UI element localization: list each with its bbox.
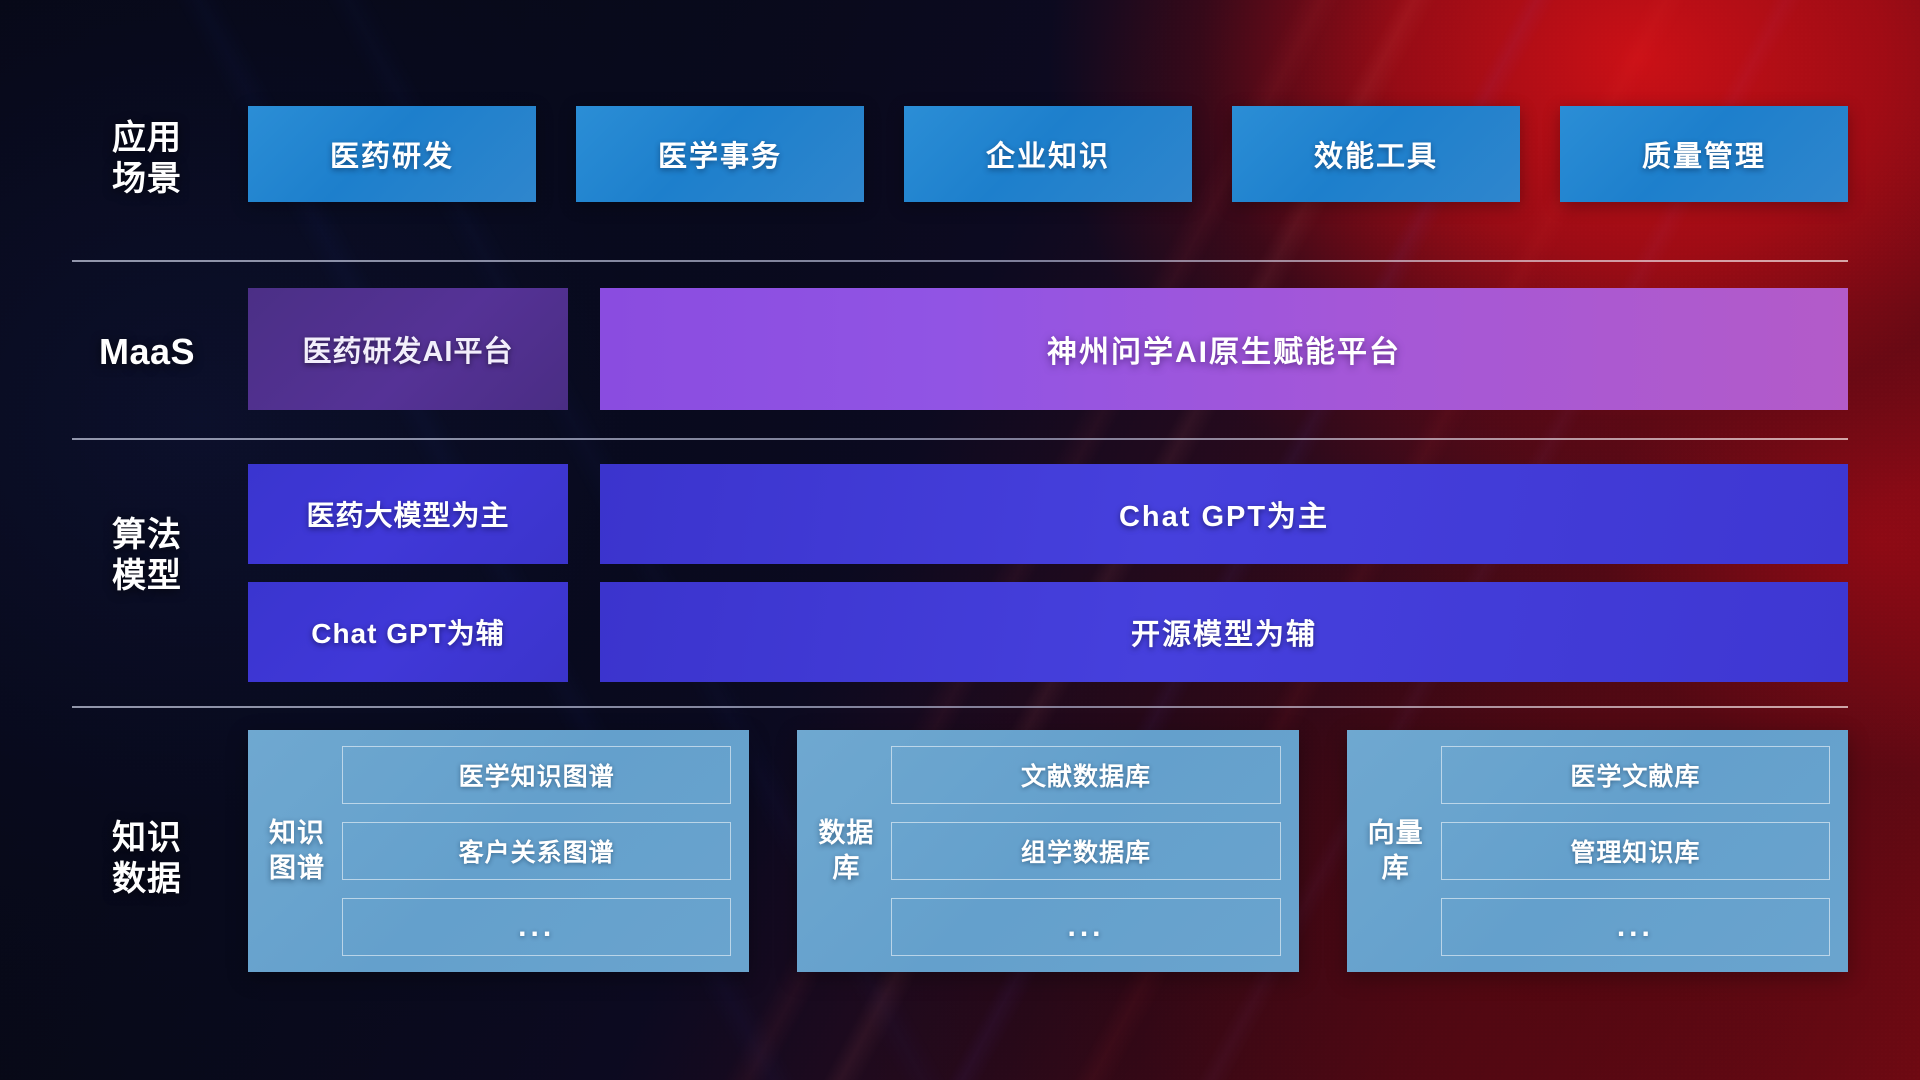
knowledge-items-vector: 医学文献库 管理知识库 ...: [1441, 746, 1830, 956]
knowledge-item-management-kb[interactable]: 管理知识库: [1441, 822, 1830, 880]
diagram-canvas: 应用 场景 医药研发 医学事务 企业知识 效能工具 质量管理 MaaS 医药研发…: [0, 0, 1920, 1080]
knowledge-row: 知识 图谱 医学知识图谱 客户关系图谱 ... 数据 库 文献数据库 组学数据库…: [248, 730, 1848, 972]
divider-maas-algorithm: [72, 438, 1848, 440]
algo-box-chatgpt-secondary[interactable]: Chat GPT为辅: [248, 582, 568, 682]
knowledge-group-vector-store: 向量 库 医学文献库 管理知识库 ...: [1347, 730, 1848, 972]
knowledge-group-title-vector: 向量 库: [1365, 746, 1427, 956]
knowledge-item-literature-db[interactable]: 文献数据库: [891, 746, 1280, 804]
algo-box-chatgpt-primary[interactable]: Chat GPT为主: [600, 464, 1848, 564]
knowledge-group-title-graph: 知识 图谱: [266, 746, 328, 956]
algo-box-pharma-llm-primary[interactable]: 医药大模型为主: [248, 464, 568, 564]
maas-row: 医药研发AI平台 神州问学AI原生赋能平台: [248, 288, 1848, 410]
application-row: 医药研发 医学事务 企业知识 效能工具 质量管理: [248, 106, 1848, 202]
knowledge-item-vector-more[interactable]: ...: [1441, 898, 1830, 956]
knowledge-items-database: 文献数据库 组学数据库 ...: [891, 746, 1280, 956]
app-box-medical-affairs[interactable]: 医学事务: [576, 106, 864, 202]
knowledge-item-graph-more[interactable]: ...: [342, 898, 731, 956]
app-box-quality-management[interactable]: 质量管理: [1560, 106, 1848, 202]
knowledge-items-graph: 医学知识图谱 客户关系图谱 ...: [342, 746, 731, 956]
divider-application-maas: [72, 260, 1848, 262]
knowledge-item-omics-db[interactable]: 组学数据库: [891, 822, 1280, 880]
knowledge-item-medical-graph[interactable]: 医学知识图谱: [342, 746, 731, 804]
app-box-medicine-rd[interactable]: 医药研发: [248, 106, 536, 202]
maas-box-pharma-ai-platform[interactable]: 医药研发AI平台: [248, 288, 568, 410]
algo-box-opensource-secondary[interactable]: 开源模型为辅: [600, 582, 1848, 682]
knowledge-item-customer-graph[interactable]: 客户关系图谱: [342, 822, 731, 880]
row-label-algorithm: 算法 模型: [72, 515, 222, 598]
row-label-maas: MaaS: [72, 330, 222, 374]
row-label-application: 应用 场景: [72, 118, 222, 201]
app-box-enterprise-knowledge[interactable]: 企业知识: [904, 106, 1192, 202]
row-label-knowledge: 知识 数据: [72, 818, 222, 901]
knowledge-group-title-database: 数据 库: [815, 746, 877, 956]
algorithm-row-secondary: Chat GPT为辅 开源模型为辅: [248, 582, 1848, 682]
divider-algorithm-knowledge: [72, 706, 1848, 708]
knowledge-item-medical-literature[interactable]: 医学文献库: [1441, 746, 1830, 804]
knowledge-group-knowledge-graph: 知识 图谱 医学知识图谱 客户关系图谱 ...: [248, 730, 749, 972]
knowledge-item-database-more[interactable]: ...: [891, 898, 1280, 956]
maas-box-shenzhou-wenxue-platform[interactable]: 神州问学AI原生赋能平台: [600, 288, 1848, 410]
algorithm-row-primary: 医药大模型为主 Chat GPT为主: [248, 464, 1848, 564]
knowledge-group-database: 数据 库 文献数据库 组学数据库 ...: [797, 730, 1298, 972]
app-box-efficiency-tools[interactable]: 效能工具: [1232, 106, 1520, 202]
